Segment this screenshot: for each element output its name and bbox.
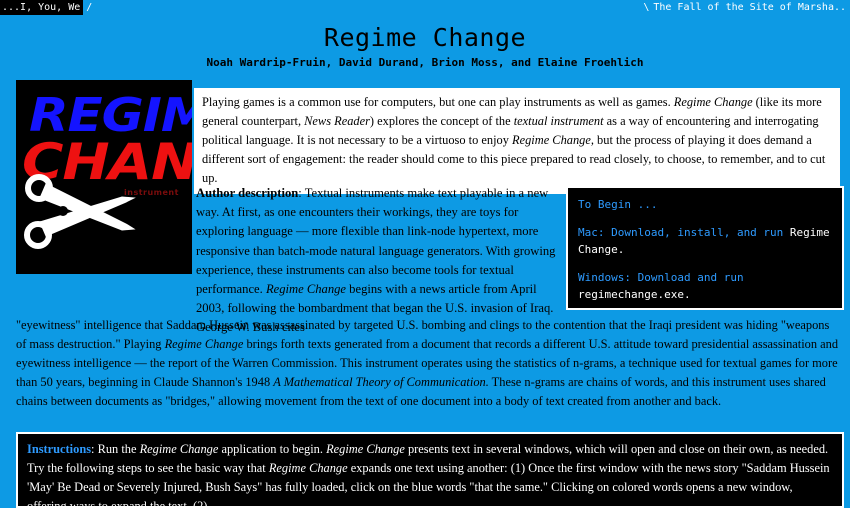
to-begin-heading: To Begin ... [578,196,832,213]
page-title: Regime Change [0,24,850,52]
author-description-text-a: : Textual instruments make text playable… [196,186,555,296]
instructions-text-a: : Run the [91,442,140,456]
author-description-lead: Author description [196,186,298,200]
intro-text-a: Playing games is a common use for comput… [202,95,674,109]
intro-title-1: Regime Change [674,95,753,109]
top-navigation-bar: ...I, You, We/ \The Fall of the Site of … [0,0,850,17]
author-description-title-1: Regime Change [266,282,346,296]
windows-download-rest: regimechange.exe. [578,288,691,301]
intro-paragraph-box: Playing games is a common use for comput… [194,88,840,194]
body-continued-paragraph: "eyewitness" intelligence that Saddam Hu… [16,316,840,411]
to-begin-mac-row: Mac: Download, install, and run Regime C… [578,224,832,258]
intro-title-3: Regime Change, [512,133,594,147]
body-title-1: Regime Change [165,337,244,351]
body-title-2: A Mathematical Theory of Communication. [273,375,489,389]
nav-previous-label: ...I, You, We [0,0,83,15]
regime-change-logo: REGIME CHANGE instrument [16,80,192,274]
to-begin-windows-row: Windows: Download and run regimechange.e… [578,269,832,303]
title-block: Regime Change Noah Wardrip-Fruin, David … [0,24,850,71]
intro-term-textual-instrument: textual instrument [514,114,604,128]
author-description: Author description: Textual instruments … [196,184,556,338]
nav-next-link[interactable]: \The Fall of the Site of Marsha.. [643,0,846,15]
instructions-text-b: application to begin. [218,442,326,456]
intro-title-2: News Reader [304,114,370,128]
instructions-lead: Instructions [27,442,91,456]
page-authors: Noah Wardrip-Fruin, David Durand, Brion … [0,55,850,71]
instructions-box: Instructions: Run the Regime Change appl… [16,432,844,508]
scissors-icon [22,172,142,257]
instructions-title-1: Regime Change [140,442,219,456]
mac-download-link[interactable]: Mac: Download, install, and run [578,226,783,239]
nav-previous-link[interactable]: ...I, You, We/ [0,0,92,15]
nav-next-slash: \ [643,2,653,13]
nav-next-label: The Fall of the Site of Marsha.. [653,2,846,13]
instructions-title-3: Regime Change [269,461,348,475]
instructions-title-2: Regime Change [326,442,405,456]
intro-text-c: ) explores the concept of the [370,114,514,128]
nav-previous-slash: / [83,0,92,15]
logo-word-regime: REGIME [29,92,192,138]
to-begin-box: To Begin ... Mac: Download, install, and… [566,186,844,310]
windows-download-link[interactable]: Windows: Download and run [578,271,744,284]
